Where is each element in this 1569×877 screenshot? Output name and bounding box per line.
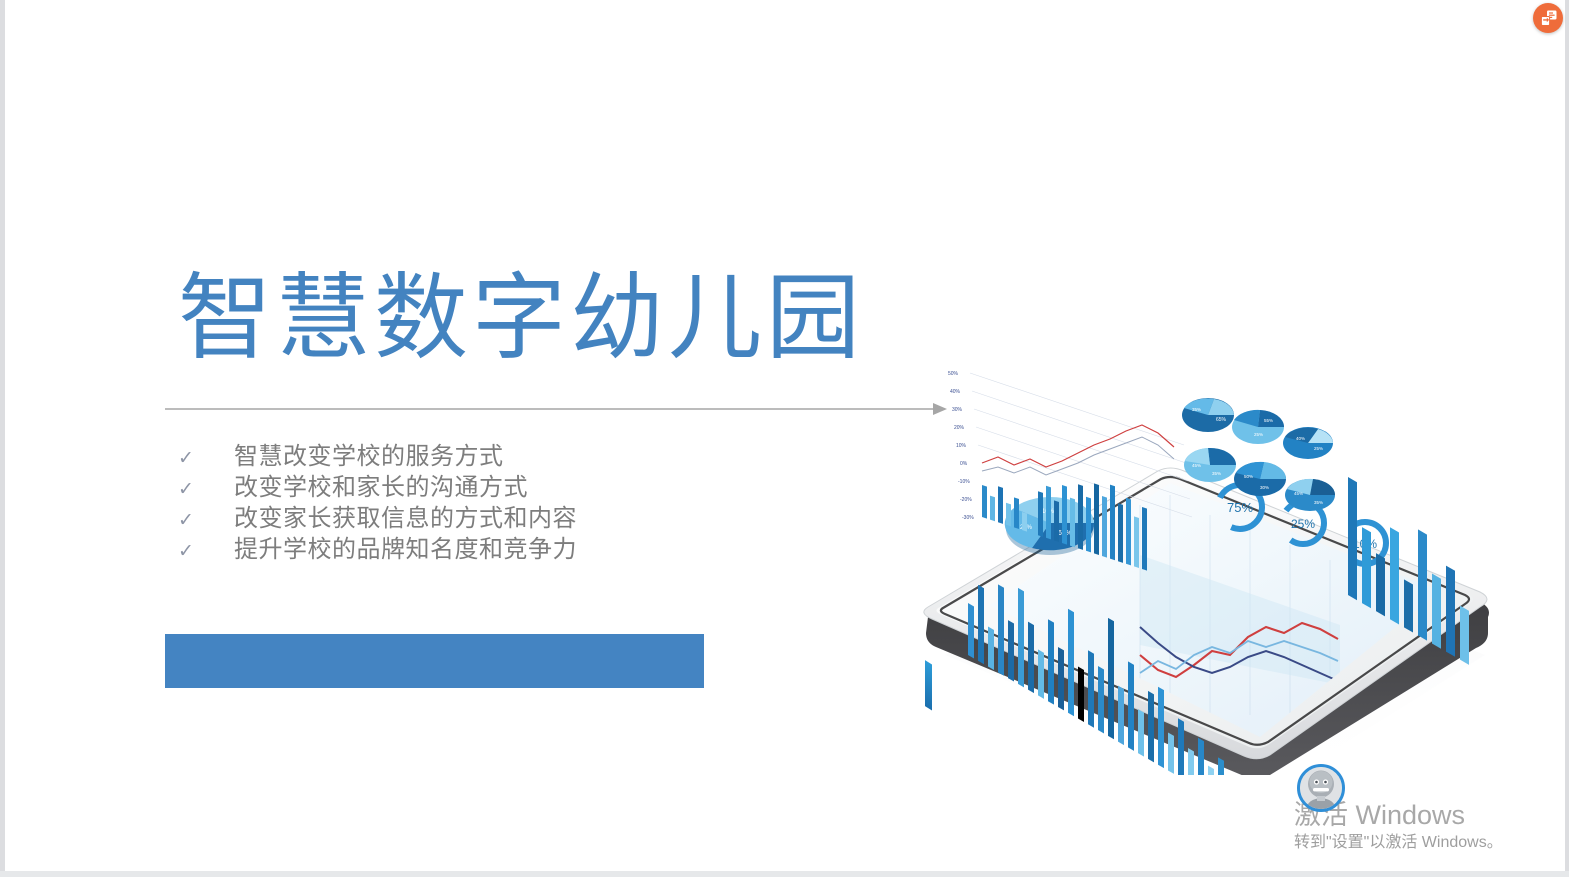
- subtitle-accent-bar: [165, 634, 704, 688]
- slide-convert-button[interactable]: [1533, 3, 1563, 33]
- svg-text:45%: 45%: [1294, 491, 1303, 496]
- svg-text:35%: 35%: [1192, 407, 1201, 412]
- svg-text:25%: 25%: [1314, 446, 1323, 451]
- list-item: ✓ 改变家长获取信息的方式和内容: [178, 503, 738, 534]
- svg-text:40%: 40%: [1296, 436, 1305, 441]
- checkmark-icon: ✓: [178, 536, 234, 567]
- slide-canvas: 65% 25% 10% 75% 25% 10%: [0, 0, 1569, 877]
- svg-text:75%: 75%: [1227, 500, 1253, 515]
- svg-text:-20%: -20%: [960, 497, 972, 503]
- list-item: ✓ 提升学校的品牌知名度和竞争力: [178, 534, 738, 565]
- svg-text:-30%: -30%: [962, 515, 974, 521]
- title-underline-arrow: [165, 400, 947, 418]
- checkmark-icon: ✓: [178, 443, 234, 474]
- svg-text:50%: 50%: [1244, 474, 1253, 479]
- canvas-edge-left: [0, 0, 5, 877]
- canvas-edge-right: [1565, 0, 1569, 877]
- svg-text:40%: 40%: [950, 389, 961, 395]
- list-item: ✓ 改变学校和家长的沟通方式: [178, 472, 738, 503]
- surface-bar-chart: [925, 660, 932, 710]
- svg-text:0%: 0%: [960, 461, 968, 467]
- bullet-list: ✓ 智慧改变学校的服务方式 ✓ 改变学校和家长的沟通方式 ✓ 改变家长获取信息的…: [178, 441, 738, 565]
- checkmark-icon: ✓: [178, 505, 234, 536]
- svg-text:25%: 25%: [1254, 432, 1263, 437]
- svg-text:30%: 30%: [1260, 485, 1269, 490]
- tablet-analytics-illustration: 65% 25% 10% 75% 25% 10%: [840, 355, 1565, 775]
- activation-subtitle: 转到"设置"以激活 Windows。: [1294, 832, 1564, 854]
- svg-text:45%: 45%: [1192, 463, 1201, 468]
- checkmark-icon: ✓: [178, 474, 234, 505]
- svg-text:35%: 35%: [1212, 471, 1221, 476]
- robot-avatar-icon: [1297, 764, 1345, 812]
- slide-convert-icon: [1539, 9, 1558, 28]
- list-item-label: 改变学校和家长的沟通方式: [234, 472, 528, 503]
- svg-text:-10%: -10%: [958, 479, 970, 485]
- svg-text:35%: 35%: [1314, 500, 1323, 505]
- canvas-edge-bottom: [0, 871, 1569, 877]
- list-item-label: 改变家长获取信息的方式和内容: [234, 503, 577, 534]
- svg-text:30%: 30%: [952, 407, 963, 413]
- svg-text:25%: 25%: [1291, 517, 1315, 531]
- list-item-label: 智慧改变学校的服务方式: [234, 441, 504, 472]
- list-item: ✓ 智慧改变学校的服务方式: [178, 441, 738, 472]
- page-title: 智慧数字幼儿园: [178, 268, 864, 370]
- list-item-label: 提升学校的品牌知名度和竞争力: [234, 534, 577, 565]
- windows-activation-watermark: 激活 Windows 转到"设置"以激活 Windows。: [1294, 800, 1564, 854]
- svg-text:10%: 10%: [956, 443, 967, 449]
- svg-text:20%: 20%: [954, 425, 965, 431]
- svg-text:65%: 65%: [1216, 417, 1227, 423]
- svg-text:50%: 50%: [948, 371, 959, 377]
- svg-text:55%: 55%: [1264, 418, 1273, 423]
